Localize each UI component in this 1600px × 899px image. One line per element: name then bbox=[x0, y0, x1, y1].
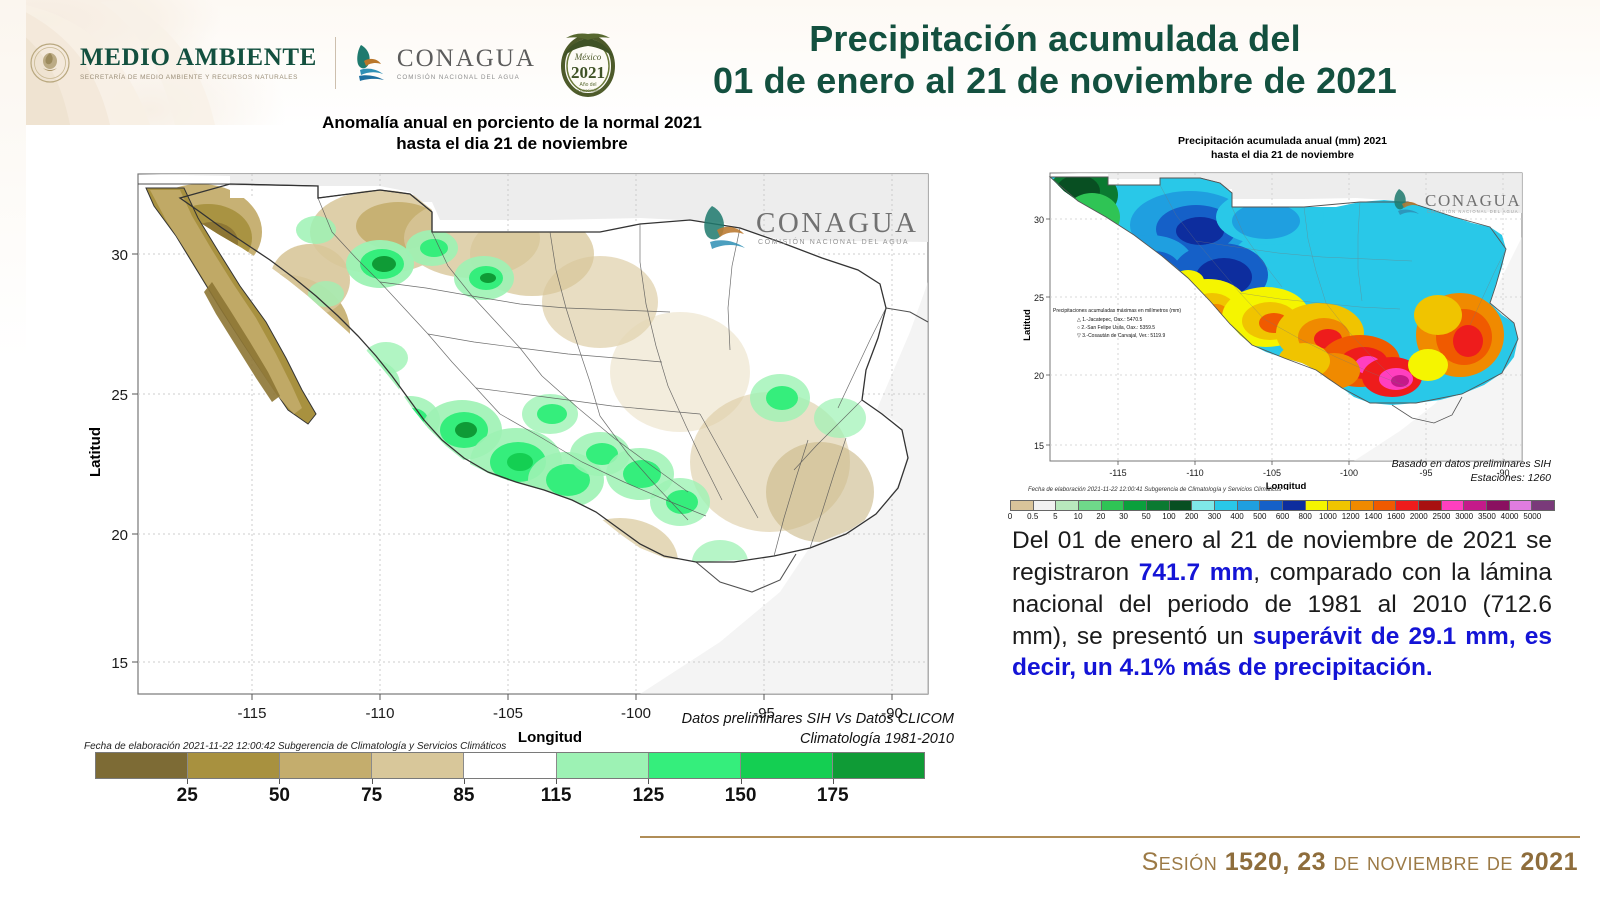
svg-text:COMISIÓN NACIONAL DEL AGUA: COMISIÓN NACIONAL DEL AGUA bbox=[758, 237, 909, 246]
footer-prefix: Sesión bbox=[1142, 848, 1225, 876]
precip-colorbar-tick-label: 1600 bbox=[1387, 512, 1405, 521]
svg-text:△ 1.-Jacatepec, Oax.: 5470.5: △ 1.-Jacatepec, Oax.: 5470.5 bbox=[1077, 317, 1142, 323]
inset-map-plot: CONAGUA COMISIÓN NACIONAL DEL AGUA Preci… bbox=[1020, 165, 1550, 490]
svg-text:-100: -100 bbox=[1340, 468, 1358, 478]
conagua-subtitle: COMISIÓN NACIONAL DEL AGUA bbox=[397, 74, 536, 81]
svg-text:25: 25 bbox=[111, 387, 128, 404]
anomaly-colorbar-tick-label: 50 bbox=[269, 785, 290, 807]
precip-colorbar-segment bbox=[1056, 501, 1079, 510]
precip-colorbar-segment bbox=[1215, 501, 1238, 510]
precip-colorbar-segment bbox=[1396, 501, 1419, 510]
precip-colorbar-segment bbox=[1419, 501, 1442, 510]
anomaly-colorbar-tickmark bbox=[464, 779, 465, 784]
svg-text:-105: -105 bbox=[493, 705, 523, 722]
precip-colorbar-labels: 00.5510203050100200300400500600800100012… bbox=[1010, 511, 1555, 525]
inset-map-y-axis: 30 25 20 15 Latitud bbox=[1022, 215, 1050, 451]
precip-colorbar-segment bbox=[1238, 501, 1261, 510]
anomaly-colorbar-tick-label: 175 bbox=[817, 785, 849, 807]
svg-text:-115: -115 bbox=[238, 705, 267, 722]
inset-heading-line1: Precipitación acumulada anual (mm) 2021 bbox=[1010, 135, 1555, 149]
svg-text:25: 25 bbox=[1034, 293, 1044, 303]
inset-map-figure: CONAGUA COMISIÓN NACIONAL DEL AGUA Preci… bbox=[1020, 165, 1550, 490]
anomaly-colorbar-tickmark bbox=[279, 779, 280, 784]
precip-colorbar-tick-label: 1200 bbox=[1342, 512, 1360, 521]
precip-colorbar-tick-label: 1000 bbox=[1319, 512, 1337, 521]
precip-colorbar-segment bbox=[1510, 501, 1533, 510]
svg-text:30: 30 bbox=[111, 247, 128, 264]
precip-colorbar-tick-label: 5 bbox=[1053, 512, 1057, 521]
precip-colorbar-tick-label: 500 bbox=[1253, 512, 1266, 521]
precip-colorbar-tick-label: 400 bbox=[1230, 512, 1243, 521]
svg-text:-115: -115 bbox=[1109, 468, 1126, 478]
precip-colorbar-segment bbox=[1011, 501, 1034, 510]
precip-colorbar-tick-label: 5000 bbox=[1523, 512, 1541, 521]
page-title-line1: Precipitación acumulada del bbox=[530, 18, 1580, 60]
precip-colorbar-tick-label: 10 bbox=[1074, 512, 1083, 521]
anomaly-colorbar-tickmark bbox=[556, 779, 557, 784]
conagua-title: CONAGUA bbox=[397, 46, 536, 71]
mexico-national-seal-icon bbox=[30, 41, 70, 85]
footer-session-number: 1520, 23 bbox=[1225, 848, 1326, 876]
precip-colorbar-segment bbox=[1328, 501, 1351, 510]
precip-colorbar-segment bbox=[1442, 501, 1465, 510]
anomaly-map-elaboration-date: Fecha de elaboración 2021-11-22 12:00:42… bbox=[84, 741, 506, 752]
precip-colorbar-segment bbox=[1306, 501, 1329, 510]
anomaly-colorbar-tickmark bbox=[187, 779, 188, 784]
anomaly-colorbar-segment bbox=[741, 753, 833, 778]
summary-highlight-1: 741.7 mm bbox=[1139, 559, 1254, 586]
summary-paragraph: Del 01 de enero al 21 de noviembre de 20… bbox=[1012, 525, 1552, 684]
anomaly-map-heading-line1: Anomalía anual en porciento de la normal… bbox=[322, 113, 702, 132]
anomaly-colorbar-segment bbox=[96, 753, 188, 778]
svg-text:Latitud: Latitud bbox=[87, 427, 104, 477]
svg-text:COMISIÓN NACIONAL DEL AGUA: COMISIÓN NACIONAL DEL AGUA bbox=[1427, 209, 1519, 214]
inset-map-note: Basado en datos preliminares SIH Estacio… bbox=[1392, 458, 1551, 485]
conagua-wordmark: CONAGUA COMISIÓN NACIONAL DEL AGUA bbox=[354, 43, 536, 83]
anomaly-colorbar-tick-label: 125 bbox=[632, 785, 664, 807]
anomaly-colorbar-segment bbox=[464, 753, 556, 778]
anomaly-colorbar-ticks: 25507585115125150175 bbox=[95, 779, 925, 807]
footer-suffix: de noviembre de bbox=[1326, 848, 1520, 876]
page-title-line2: 01 de enero al 21 de noviembre de 2021 bbox=[530, 60, 1580, 102]
anomaly-colorbar-tick-label: 25 bbox=[177, 785, 198, 807]
anomaly-colorbar-segment bbox=[372, 753, 464, 778]
semarnat-title: MEDIO AMBIENTE bbox=[80, 45, 317, 71]
precip-colorbar-segment bbox=[1532, 501, 1554, 510]
svg-text:15: 15 bbox=[111, 655, 128, 672]
semarnat-subtitle: SECRETARÍA DE MEDIO AMBIENTE Y RECURSOS … bbox=[80, 74, 317, 81]
precip-colorbar-tick-label: 4000 bbox=[1501, 512, 1519, 521]
precip-colorbar-segment bbox=[1079, 501, 1102, 510]
precip-colorbar-tick-label: 600 bbox=[1276, 512, 1289, 521]
precip-colorbar-tick-label: 3000 bbox=[1455, 512, 1473, 521]
anomaly-map-y-axis: 30 25 20 15 Latitud bbox=[87, 247, 138, 672]
anomaly-map-heading: Anomalía anual en porciento de la normal… bbox=[62, 112, 962, 155]
anomaly-colorbar-tickmark bbox=[372, 779, 373, 784]
footer-divider bbox=[640, 836, 1580, 838]
anomaly-colorbar-tick-label: 150 bbox=[725, 785, 757, 807]
precip-colorbar-segment bbox=[1124, 501, 1147, 510]
svg-text:-110: -110 bbox=[1186, 468, 1203, 478]
precip-colorbar-segment bbox=[1283, 501, 1306, 510]
precip-colorbar-segment bbox=[1034, 501, 1057, 510]
svg-text:20: 20 bbox=[111, 527, 128, 544]
anomaly-map-plot: CONAGUA COMISIÓN NACIONAL DEL AGUA 30 25… bbox=[80, 162, 952, 752]
precip-colorbar-tick-label: 1400 bbox=[1364, 512, 1382, 521]
anomaly-colorbar-segment bbox=[280, 753, 372, 778]
anomaly-colorbar-segment bbox=[557, 753, 649, 778]
accumulated-precip-map-panel: Precipitación acumulada anual (mm) 2021 … bbox=[1010, 135, 1555, 520]
anomaly-map-figure: CONAGUA COMISIÓN NACIONAL DEL AGUA 30 25… bbox=[80, 162, 952, 802]
anomaly-colorbar-tickmark bbox=[741, 779, 742, 784]
precip-colorbar-tick-label: 2500 bbox=[1433, 512, 1451, 521]
semarnat-wordmark: MEDIO AMBIENTE SECRETARÍA DE MEDIO AMBIE… bbox=[80, 45, 317, 81]
precip-colorbar-tick-label: 0.5 bbox=[1027, 512, 1038, 521]
precip-colorbar-segment bbox=[1260, 501, 1283, 510]
footer-session-label: Sesión 1520, 23 de noviembre de 2021 bbox=[1142, 848, 1578, 877]
precip-colorbar-segment bbox=[1192, 501, 1215, 510]
svg-text:CONAGUA: CONAGUA bbox=[756, 207, 919, 239]
conagua-eagle-water-icon bbox=[354, 43, 388, 83]
precip-colorbar-segment bbox=[1351, 501, 1374, 510]
anomaly-map-panel: Anomalía anual en porciento de la normal… bbox=[62, 112, 962, 812]
svg-text:-110: -110 bbox=[366, 705, 395, 722]
anomaly-colorbar-segment bbox=[833, 753, 924, 778]
precip-colorbar-segment bbox=[1374, 501, 1397, 510]
anomaly-map-attribution: Datos preliminares SIH Vs Datos CLICOM C… bbox=[534, 710, 954, 749]
svg-text:Latitud: Latitud bbox=[1022, 309, 1033, 341]
inset-heading-line2: hasta el dia 21 de noviembre bbox=[1010, 149, 1555, 163]
precip-colorbar-segment bbox=[1170, 501, 1193, 510]
inset-map-heading: Precipitación acumulada anual (mm) 2021 … bbox=[1010, 135, 1555, 162]
svg-text:CONAGUA: CONAGUA bbox=[1425, 191, 1521, 210]
anomaly-colorbar: 25507585115125150175 bbox=[95, 752, 925, 810]
svg-text:30: 30 bbox=[1034, 215, 1044, 225]
anomaly-colorbar-segment bbox=[649, 753, 741, 778]
precip-colorbar: 00.5510203050100200300400500600800100012… bbox=[1010, 500, 1555, 525]
anomaly-attribution-line2: Climatología 1981-2010 bbox=[534, 730, 954, 750]
left-edge-stripe bbox=[0, 0, 26, 899]
precip-colorbar-tick-label: 30 bbox=[1119, 512, 1128, 521]
page-title: Precipitación acumulada del 01 de enero … bbox=[530, 18, 1580, 102]
inset-note-line2: Estaciones: 1260 bbox=[1392, 472, 1551, 486]
anomaly-colorbar-tickmark bbox=[833, 779, 834, 784]
precip-colorbar-tick-label: 3500 bbox=[1478, 512, 1496, 521]
precip-colorbar-strip bbox=[1010, 500, 1555, 511]
precip-colorbar-tick-label: 800 bbox=[1299, 512, 1312, 521]
precip-colorbar-segment bbox=[1147, 501, 1170, 510]
anomaly-colorbar-segment bbox=[188, 753, 280, 778]
anomaly-colorbar-tick-label: 85 bbox=[453, 785, 474, 807]
svg-text:○ 2.-San Felipe Usila, Oax.: 5: ○ 2.-San Felipe Usila, Oax.: 5359.5 bbox=[1077, 325, 1155, 331]
precip-colorbar-tick-label: 300 bbox=[1208, 512, 1221, 521]
footer-year: 2021 bbox=[1520, 848, 1578, 876]
precip-colorbar-segment bbox=[1464, 501, 1487, 510]
svg-text:▽ 3.-Cosaután de Carvajal, Ver: ▽ 3.-Cosaután de Carvajal, Ver.: 5119.9 bbox=[1077, 333, 1165, 339]
inset-note-line1: Basado en datos preliminares SIH bbox=[1392, 458, 1551, 472]
precip-colorbar-segment bbox=[1487, 501, 1510, 510]
precip-colorbar-segment bbox=[1102, 501, 1125, 510]
logo-divider bbox=[335, 37, 336, 89]
anomaly-map-heading-line2: hasta el dia 21 de noviembre bbox=[62, 133, 962, 154]
inset-map-elaboration-date: Fecha de elaboración 2021-11-22 12:00:41… bbox=[1028, 487, 1281, 493]
svg-text:15: 15 bbox=[1034, 441, 1044, 451]
precip-colorbar-tick-label: 20 bbox=[1096, 512, 1105, 521]
anomaly-colorbar-tick-label: 75 bbox=[361, 785, 382, 807]
anomaly-colorbar-tickmark bbox=[648, 779, 649, 784]
precip-colorbar-tick-label: 50 bbox=[1142, 512, 1151, 521]
anomaly-attribution-line1: Datos preliminares SIH Vs Datos CLICOM bbox=[534, 710, 954, 730]
svg-text:Precipitaciones acumuladas máx: Precipitaciones acumuladas máximas en mi… bbox=[1053, 308, 1181, 314]
svg-text:-105: -105 bbox=[1263, 468, 1281, 478]
precip-colorbar-tick-label: 100 bbox=[1162, 512, 1175, 521]
svg-text:20: 20 bbox=[1034, 371, 1044, 381]
anomaly-colorbar-tick-label: 115 bbox=[541, 785, 572, 807]
precip-colorbar-tick-label: 2000 bbox=[1410, 512, 1428, 521]
precip-colorbar-tick-label: 200 bbox=[1185, 512, 1198, 521]
anomaly-colorbar-strip bbox=[95, 752, 925, 779]
precip-colorbar-tick-label: 0 bbox=[1008, 512, 1012, 521]
